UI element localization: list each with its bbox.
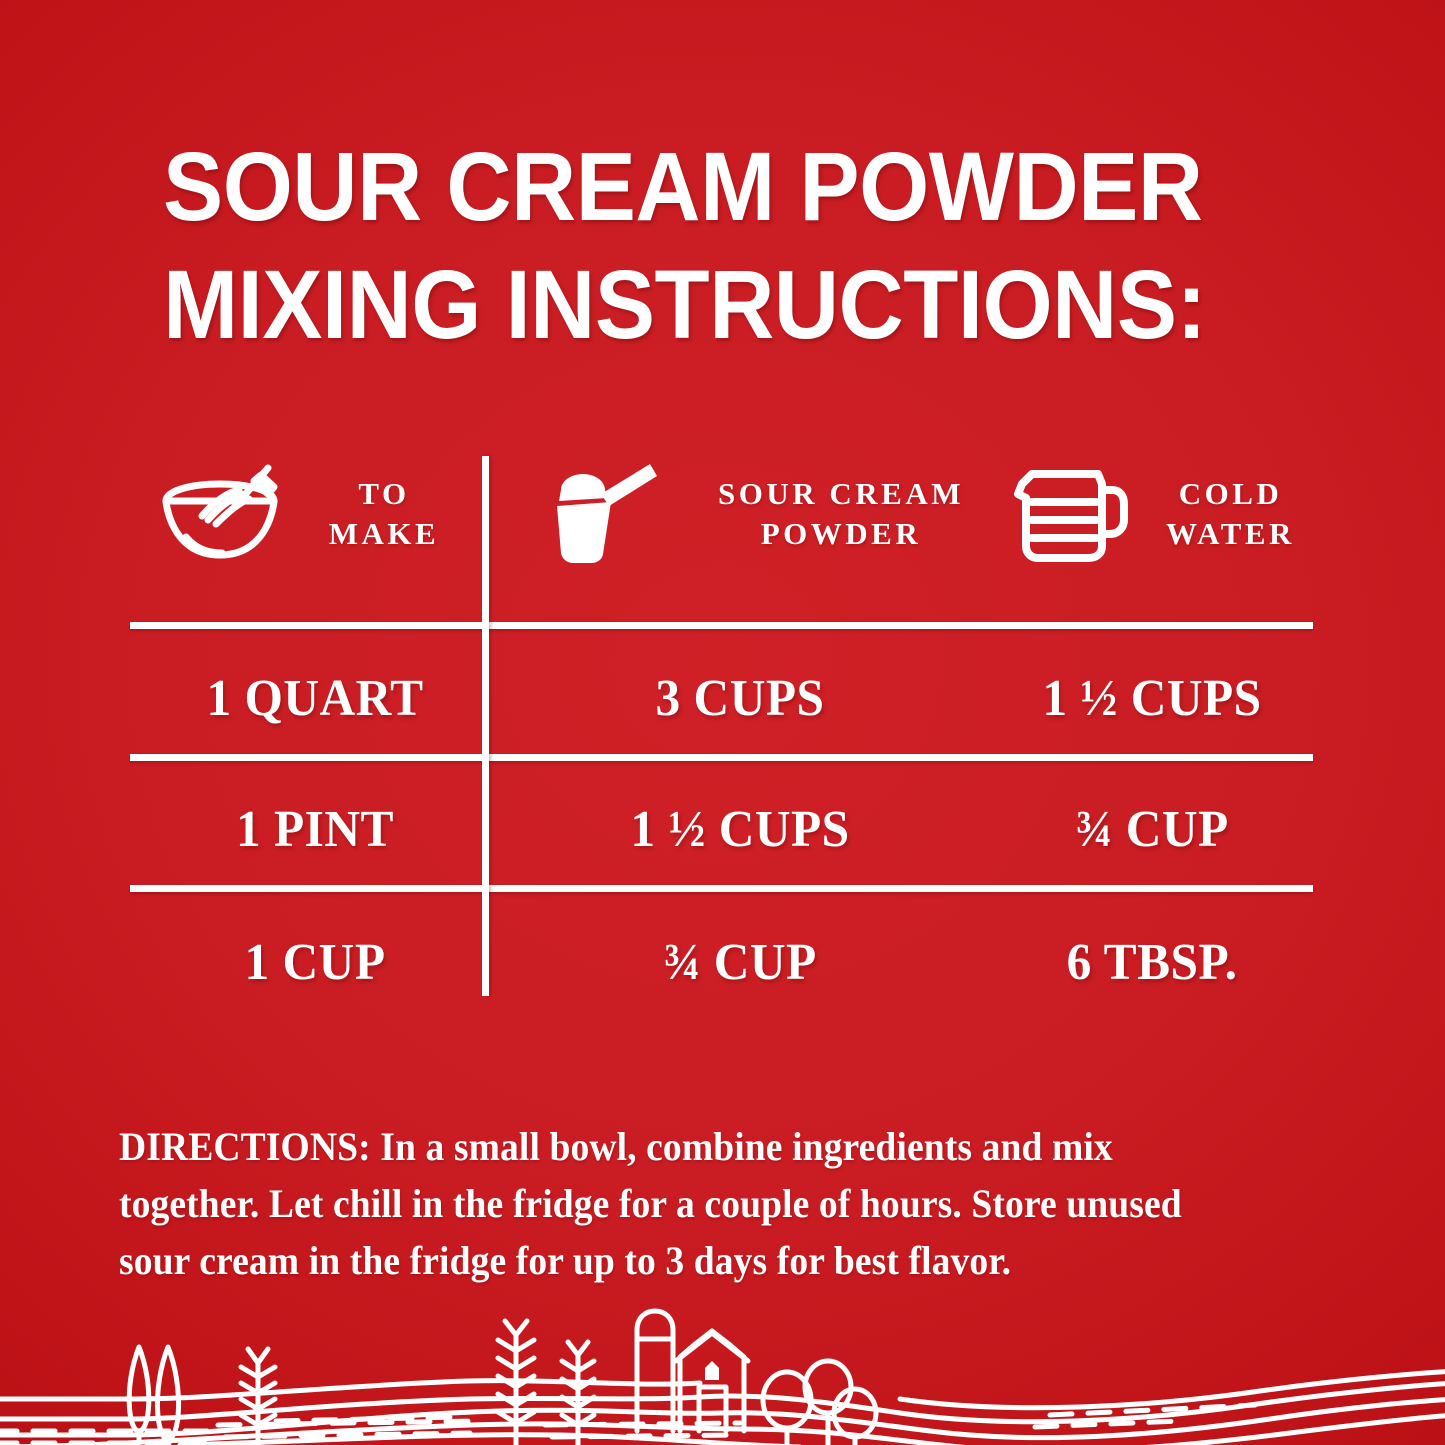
table-header-sour-cream-powder-label: SOUR CREAM POWDER [691, 474, 991, 554]
table-header-sour-cream-powder: SOUR CREAM POWDER [545, 454, 1015, 574]
table-header-cold-water: COLD WATER [1010, 454, 1310, 574]
barn [676, 1331, 748, 1431]
table-header-to-make-label: TO MAKE [304, 474, 464, 554]
table-row: 3 CUPS [517, 673, 964, 725]
directions-lead-label: DIRECTIONS: [119, 1124, 371, 1169]
mixing-ratio-table: TO MAKE SOUR CREAM POWDER [130, 448, 1313, 1008]
page-title: SOUR CREAM POWDER MIXING INSTRUCTIONS: [163, 128, 1343, 364]
measuring-scoop-icon [545, 454, 675, 574]
table-row: 1 PINT [158, 804, 472, 856]
header-label-line2: WATER [1166, 516, 1295, 551]
title-line-1: SOUR CREAM POWDER [163, 128, 1260, 246]
header-label-line1: TO [358, 476, 409, 511]
table-row: 1 QUART [158, 673, 472, 725]
table-row: 1 ½ CUPS [517, 804, 964, 856]
header-label-line1: SOUR CREAM [718, 476, 964, 511]
table-row: ¾ CUP [517, 937, 964, 989]
table-row: 1 CUP [158, 937, 472, 989]
table-row: 6 TBSP. [1000, 937, 1304, 989]
table-divider-line [130, 622, 1313, 629]
table-header-cold-water-label: COLD WATER [1151, 474, 1310, 554]
title-line-2: MIXING INSTRUCTIONS: [163, 246, 1260, 364]
header-label-line2: POWDER [761, 516, 922, 551]
farm-landscape-illustration [0, 1235, 1445, 1445]
mixing-bowl-whisk-icon [150, 454, 290, 574]
header-label-line1: COLD [1179, 476, 1283, 511]
sour-cream-powder-instruction-poster: SOUR CREAM POWDER MIXING INSTRUCTIONS: [0, 0, 1445, 1445]
table-divider-line [130, 885, 1313, 892]
table-divider-line [130, 754, 1313, 761]
table-vertical-divider [482, 456, 489, 996]
table-header-to-make: TO MAKE [150, 454, 480, 574]
header-label-line2: MAKE [329, 516, 439, 551]
table-row: ¾ CUP [1000, 804, 1304, 856]
measuring-cup-icon [1010, 454, 1135, 574]
table-row: 1 ½ CUPS [1000, 673, 1304, 725]
